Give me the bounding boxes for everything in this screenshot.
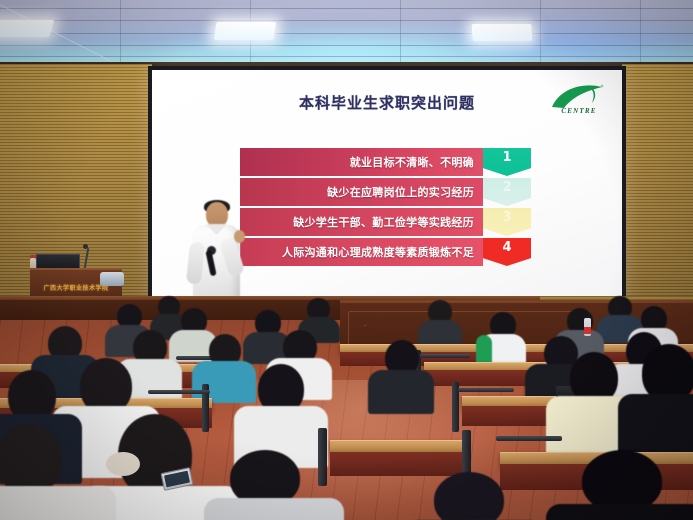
head	[434, 472, 504, 520]
problem-label: 就业目标不清晰、不明确	[240, 148, 483, 176]
ceiling-grid-line	[0, 8, 693, 9]
problem-number-badge: 2	[483, 178, 531, 206]
torso	[0, 486, 116, 520]
ceiling-glow-secondary	[430, 10, 693, 70]
seat-divider	[458, 388, 514, 392]
problem-label: 缺少学生干部、勤工俭学等实践经历	[240, 208, 483, 236]
audience-member	[480, 312, 524, 362]
problem-number-badge: 1	[483, 148, 531, 176]
presenter-hand	[234, 230, 245, 243]
problem-item: 人际沟通和心理成熟度等素质锻炼不足 4	[240, 238, 540, 266]
lecture-hall-photo: 本科毕业生求职突出问题 CENTRE 就业目标不清晰、不明确 1 缺少在应聘岗位…	[0, 0, 693, 520]
problem-item: 就业目标不清晰、不明确 1	[240, 148, 540, 176]
head	[0, 424, 62, 494]
ceiling-light-right	[471, 24, 532, 41]
problem-label: 缺少在应聘岗位上的实习经历	[240, 178, 483, 206]
audience-member-foreground	[0, 424, 110, 520]
audience-member-foreground	[556, 450, 693, 520]
torso	[204, 498, 344, 520]
water-bottle	[584, 318, 591, 336]
problem-item: 缺少在应聘岗位上的实习经历 2	[240, 178, 540, 206]
ceiling-grid-line	[0, 33, 693, 34]
seat-divider	[496, 436, 562, 441]
hair-scrunchie	[106, 452, 140, 476]
problem-list: 就业目标不清晰、不明确 1 缺少在应聘岗位上的实习经历 2 缺少学生干部、勤工俭…	[240, 148, 540, 268]
centre-logo: CENTRE	[546, 84, 608, 124]
head	[582, 450, 662, 512]
audience-member	[624, 344, 693, 454]
audience-member-foreground	[214, 450, 334, 520]
audience-member	[240, 364, 322, 464]
ceiling-grid-line	[0, 45, 693, 46]
ceiling-grid-line	[0, 20, 693, 21]
torso	[546, 504, 693, 520]
ceiling-light-center	[214, 22, 277, 40]
problem-label: 人际沟通和心理成熟度等素质锻炼不足	[240, 238, 483, 266]
podium-speaker	[100, 272, 124, 286]
presenter-head	[206, 202, 228, 227]
audience-member	[372, 340, 430, 406]
seat-divider	[148, 390, 210, 394]
sleeve	[476, 335, 492, 363]
problem-number-badge: 3	[483, 208, 531, 236]
torso	[368, 370, 434, 414]
problem-item: 缺少学生干部、勤工俭学等实践经历 3	[240, 208, 540, 236]
audience-member-foreground	[414, 472, 534, 520]
logo-text: CENTRE	[551, 107, 607, 115]
presenter	[190, 202, 242, 306]
ceiling-light-left	[0, 20, 54, 37]
wall-right	[622, 64, 693, 320]
bottle-label	[584, 327, 591, 334]
problem-number-badge: 4	[483, 238, 531, 266]
phone-screen	[164, 471, 190, 488]
